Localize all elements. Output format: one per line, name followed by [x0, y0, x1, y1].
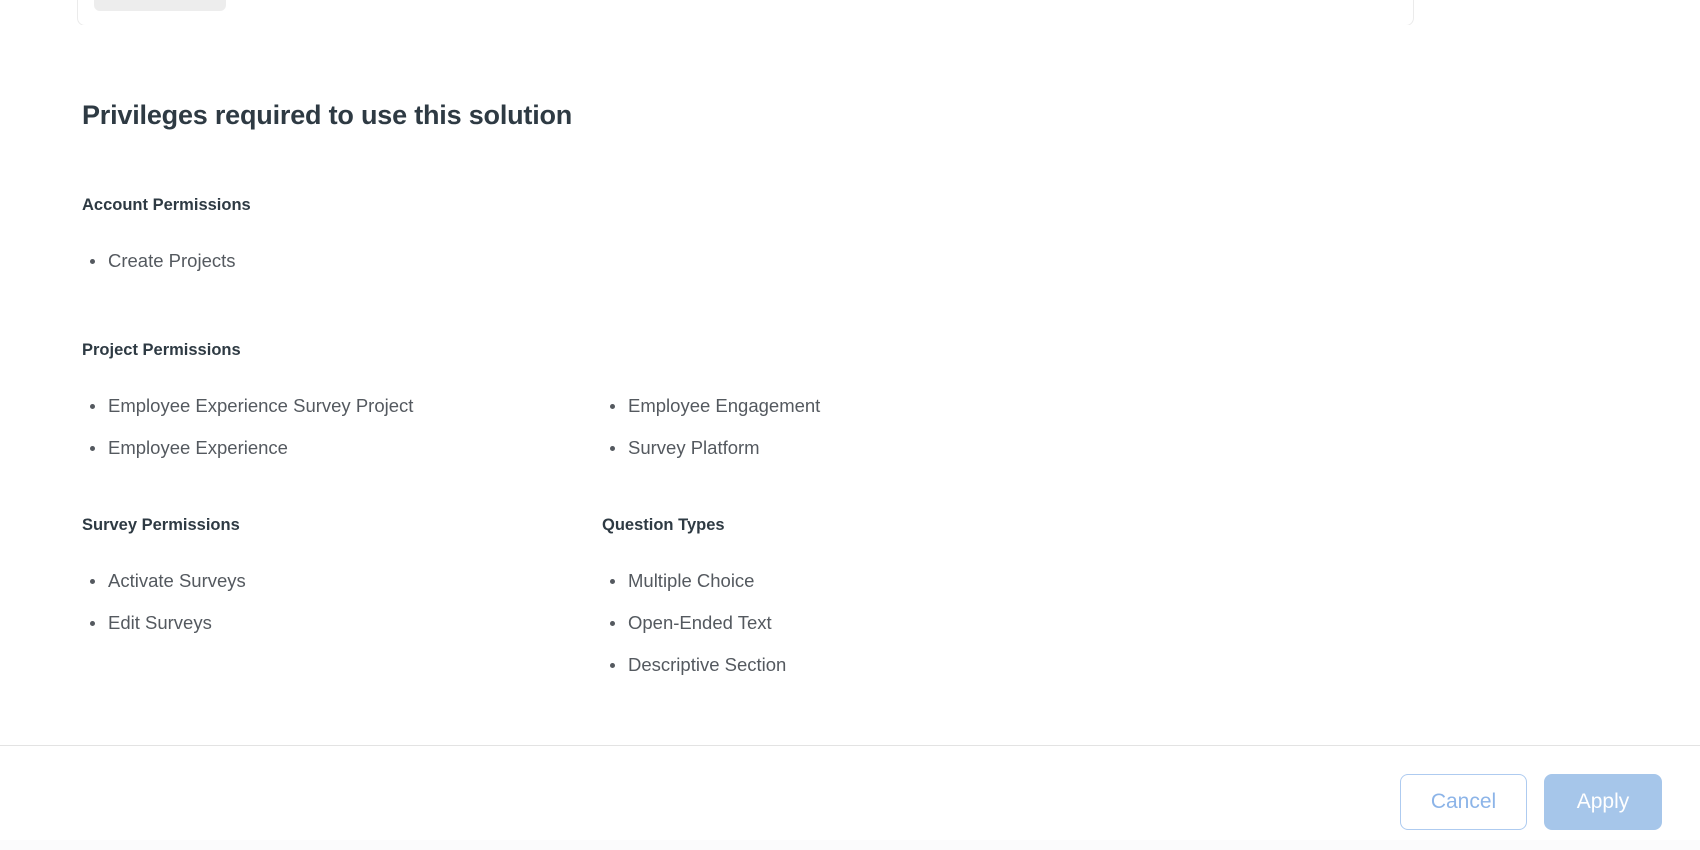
footer-actions: Cancel Apply [1400, 774, 1662, 830]
section-account-permissions: Account Permissions Create Projects [82, 195, 1622, 282]
list-item: Edit Surveys [82, 602, 602, 644]
column-left: Employee Experience Survey Project Emplo… [82, 385, 602, 469]
section-heading-primary: Account Permissions [82, 195, 602, 215]
permission-list: Employee Experience Survey Project Emplo… [82, 385, 602, 469]
list-item: Employee Experience [82, 427, 602, 469]
section-project-permissions: Project Permissions Employee Experience … [82, 340, 1622, 469]
section-heading-row: Survey Permissions Question Types [82, 515, 1622, 535]
list-item: Survey Platform [602, 427, 1122, 469]
section-heading-primary: Survey Permissions [82, 515, 602, 535]
list-item: Descriptive Section [602, 644, 1122, 686]
permission-list: Employee Engagement Survey Platform [602, 385, 1122, 469]
section-survey-permissions: Survey Permissions Question Types Activa… [82, 515, 1622, 686]
top-partial-card [77, 0, 1414, 26]
section-heading-row: Project Permissions [82, 340, 1622, 360]
list-item: Employee Experience Survey Project [82, 385, 602, 427]
column-right: Employee Engagement Survey Platform [602, 385, 1122, 469]
list-item: Open-Ended Text [602, 602, 1122, 644]
list-item: Multiple Choice [602, 560, 1122, 602]
list-item: Activate Surveys [82, 560, 602, 602]
dialog-root: Privileges required to use this solution… [0, 0, 1700, 850]
permission-list: Create Projects [82, 240, 602, 282]
column-left: Create Projects [82, 240, 602, 282]
list-item: Create Projects [82, 240, 602, 282]
question-type-list: Multiple Choice Open-Ended Text Descript… [602, 560, 1122, 686]
column-right: Multiple Choice Open-Ended Text Descript… [602, 560, 1122, 686]
section-columns: Activate Surveys Edit Surveys Multiple C… [82, 560, 1622, 686]
apply-button[interactable]: Apply [1544, 774, 1662, 830]
section-columns: Create Projects [82, 240, 1622, 282]
page-title: Privileges required to use this solution [82, 100, 572, 131]
permission-list: Activate Surveys Edit Surveys [82, 560, 602, 644]
column-left: Activate Surveys Edit Surveys [82, 560, 602, 644]
bottom-edge-band [0, 840, 1700, 850]
section-heading-primary: Project Permissions [82, 340, 602, 360]
placeholder-pill[interactable] [94, 0, 226, 11]
dialog-footer: Cancel Apply [0, 746, 1700, 840]
cancel-button[interactable]: Cancel [1400, 774, 1527, 830]
section-columns: Employee Experience Survey Project Emplo… [82, 385, 1622, 469]
privileges-content: Privileges required to use this solution… [0, 25, 1700, 745]
list-item: Employee Engagement [602, 385, 1122, 427]
section-heading-row: Account Permissions [82, 195, 1622, 215]
section-heading-secondary: Question Types [602, 515, 1122, 535]
